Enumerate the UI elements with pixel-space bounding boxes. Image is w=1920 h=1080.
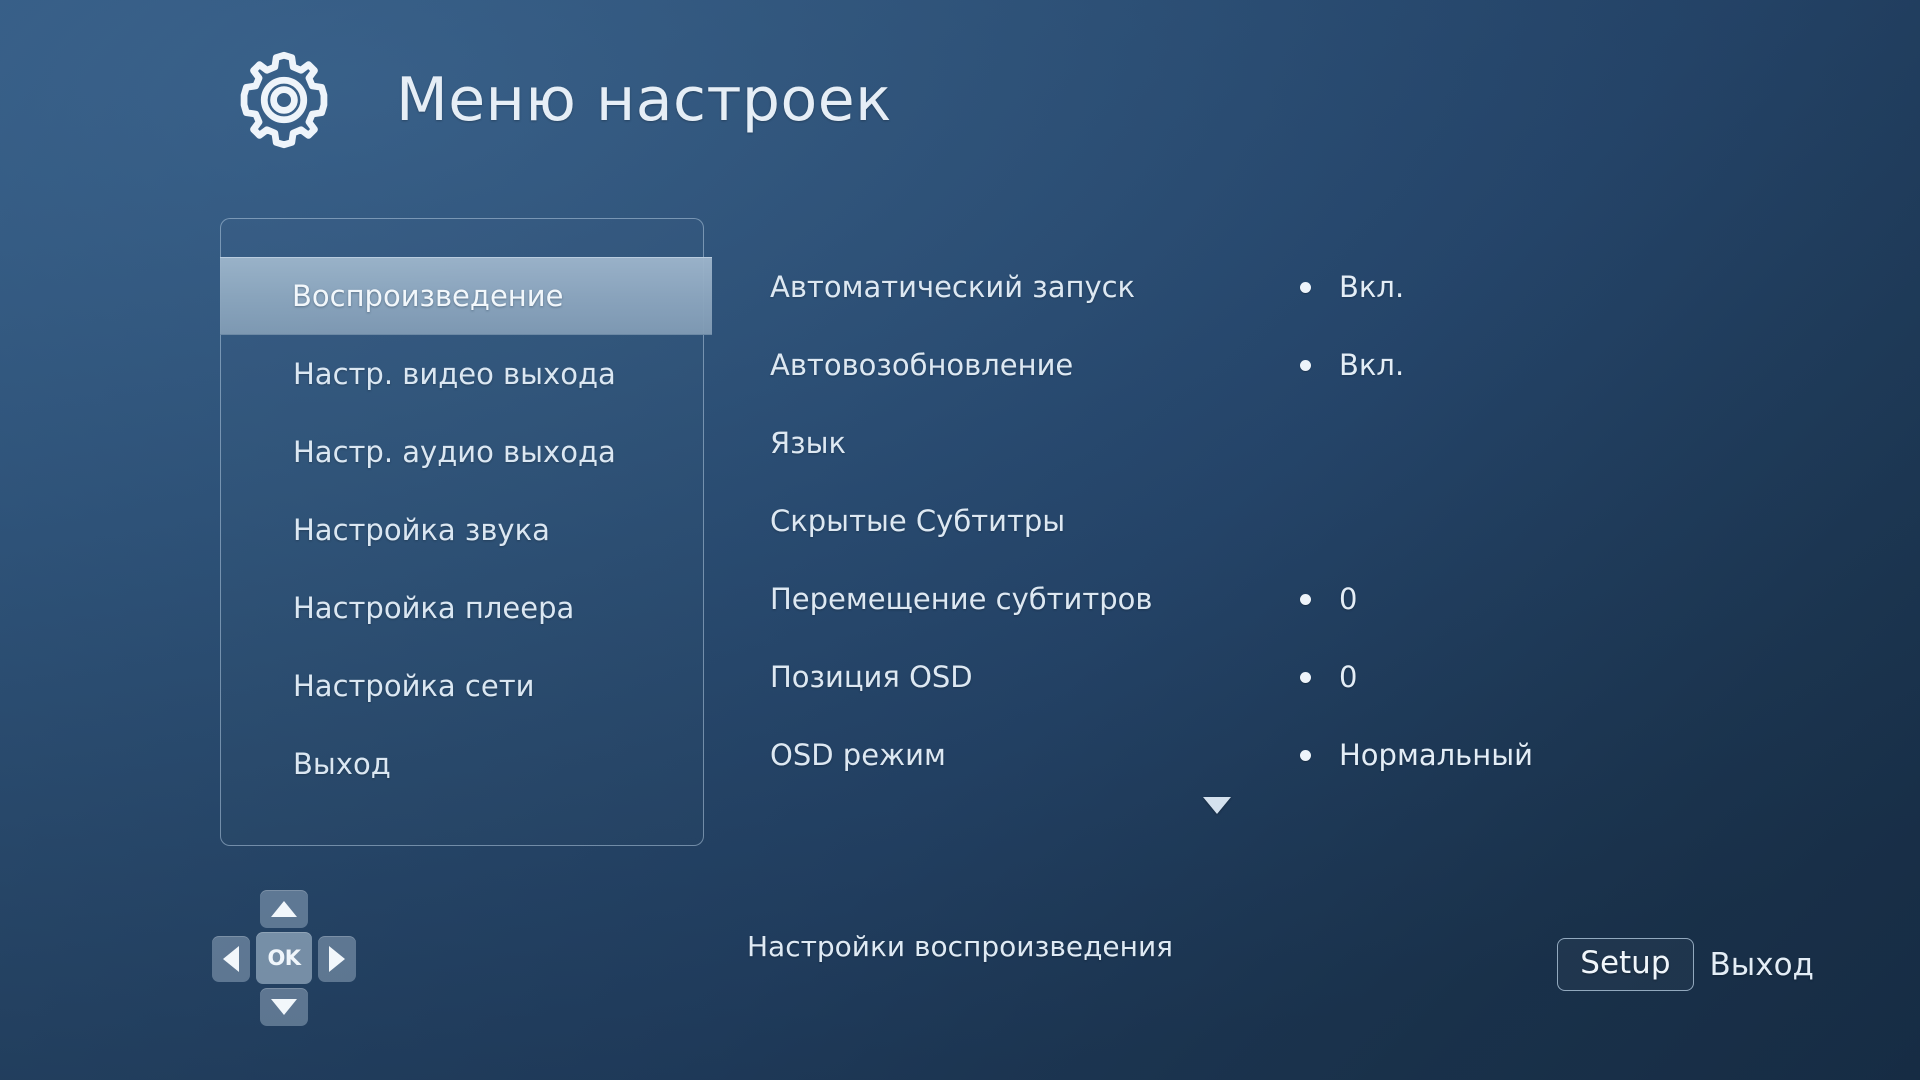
gear-icon [232, 48, 336, 152]
sidebar-item-label: Настройка звука [293, 513, 550, 547]
dpad-down-button[interactable] [260, 988, 308, 1026]
setting-label: Автоматический запуск [770, 270, 1300, 304]
value-bullet-icon [1300, 594, 1311, 605]
sidebar-item-audio-output[interactable]: Настр. аудио выхода [221, 413, 703, 491]
setting-value-group[interactable]: 0 [1300, 582, 1357, 616]
value-bullet-icon [1300, 282, 1311, 293]
value-bullet-icon [1300, 672, 1311, 683]
settings-category-panel: Воспроизведение Настр. видео выхода Наст… [220, 218, 704, 846]
sidebar-item-network-setup[interactable]: Настройка сети [221, 647, 703, 725]
sidebar-item-label: Воспроизведение [292, 279, 563, 313]
setup-key-button[interactable]: Setup [1557, 938, 1693, 991]
sidebar-item-player-setup[interactable]: Настройка плеера [221, 569, 703, 647]
setting-row-osd-position[interactable]: Позиция OSD 0 [770, 638, 1730, 716]
setting-value-group[interactable]: Вкл. [1300, 270, 1404, 304]
setting-value: Вкл. [1339, 270, 1404, 304]
dpad-up-button[interactable] [260, 890, 308, 928]
setting-row-osd-mode[interactable]: OSD режим Нормальный [770, 716, 1730, 794]
setting-value: Нормальный [1339, 738, 1533, 772]
setting-row-language[interactable]: Язык [770, 404, 1730, 482]
value-bullet-icon [1300, 360, 1311, 371]
arrow-down-icon [271, 999, 297, 1015]
setting-row-autostart[interactable]: Автоматический запуск Вкл. [770, 248, 1730, 326]
sidebar-item-exit[interactable]: Выход [221, 725, 703, 803]
setting-label: OSD режим [770, 738, 1300, 772]
settings-options-list: Автоматический запуск Вкл. Автовозобновл… [770, 248, 1730, 794]
setting-value-group[interactable] [1300, 516, 1339, 527]
setting-row-autoresume[interactable]: Автовозобновление Вкл. [770, 326, 1730, 404]
setting-label: Позиция OSD [770, 660, 1300, 694]
sidebar-item-label: Настройка сети [293, 669, 534, 703]
setting-value-group[interactable]: 0 [1300, 660, 1357, 694]
sidebar-item-label: Выход [293, 747, 391, 781]
setting-value: 0 [1339, 582, 1357, 616]
sidebar-list: Воспроизведение Настр. видео выхода Наст… [221, 219, 703, 803]
sidebar-item-label: Настр. видео выхода [293, 357, 616, 391]
exit-label: Выход [1710, 947, 1815, 983]
sidebar-item-label: Настр. аудио выхода [293, 435, 616, 469]
value-bullet-icon [1300, 750, 1311, 761]
sidebar-item-sound-setup[interactable]: Настройка звука [221, 491, 703, 569]
setting-label: Автовозобновление [770, 348, 1300, 382]
chevron-down-icon[interactable] [1203, 797, 1231, 814]
exit-hint-group: Setup Выход [1557, 938, 1814, 991]
setting-label: Перемещение субтитров [770, 582, 1300, 616]
sidebar-item-label: Настройка плеера [293, 591, 574, 625]
setting-value-group[interactable]: Вкл. [1300, 348, 1404, 382]
setting-row-subtitle-shift[interactable]: Перемещение субтитров 0 [770, 560, 1730, 638]
arrow-up-icon [271, 901, 297, 917]
sidebar-item-video-output[interactable]: Настр. видео выхода [221, 335, 703, 413]
setting-value-group[interactable] [1300, 438, 1339, 449]
setting-value-group[interactable]: Нормальный [1300, 738, 1533, 772]
setting-row-closed-captions[interactable]: Скрытые Субтитры [770, 482, 1730, 560]
sidebar-item-playback[interactable]: Воспроизведение [220, 257, 712, 335]
setting-label: Скрытые Субтитры [770, 504, 1300, 538]
page-header: Меню настроек [232, 48, 892, 152]
setting-label: Язык [770, 426, 1300, 460]
setting-value: Вкл. [1339, 348, 1404, 382]
page-title: Меню настроек [396, 65, 892, 135]
setting-value: 0 [1339, 660, 1357, 694]
